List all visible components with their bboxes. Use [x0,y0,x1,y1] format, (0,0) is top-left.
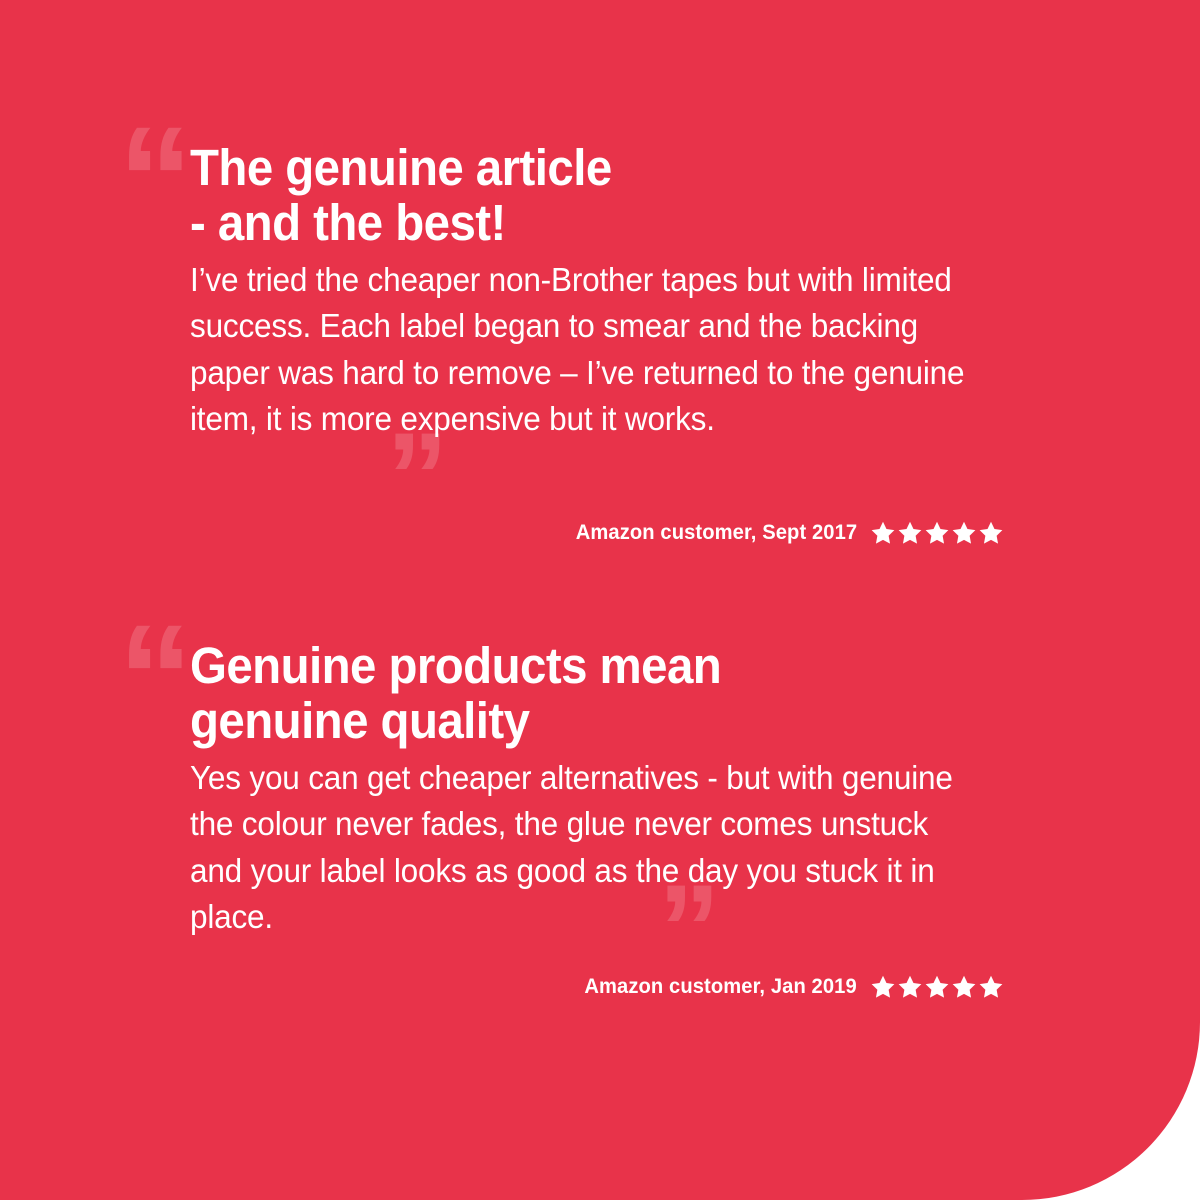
testimonial-2: “ Genuine products mean genuine quality … [118,638,1018,940]
testimonial-2-text-column: Genuine products mean genuine quality Ye… [190,638,1018,940]
testimonial-1-text-column: The genuine article - and the best! I’ve… [190,140,1018,442]
testimonial-1-heading: The genuine article - and the best! [190,140,960,250]
star-icon [924,974,950,1000]
testimonial-2-body: Yes you can get cheaper alternatives - b… [190,755,981,940]
testimonial-1-attribution-name: Amazon customer, Sept 2017 [576,521,857,545]
testimonial-1-quote-body: “ The genuine article - and the best! I’… [118,140,1018,442]
star-icon [978,974,1004,1000]
testimonial-2-heading: Genuine products mean genuine quality [190,638,960,748]
testimonial-2-quote-body: “ Genuine products mean genuine quality … [118,638,1018,940]
star-icon [951,974,977,1000]
star-icon [870,974,896,1000]
quote-open-icon: “ [118,602,189,752]
testimonial-1: “ The genuine article - and the best! I’… [118,140,1018,442]
testimonials-content: “ The genuine article - and the best! I’… [0,0,1200,1200]
testimonial-2-rating-stars [870,974,1004,1000]
star-icon [870,520,896,546]
star-icon [978,520,1004,546]
quote-open-icon: “ [118,104,189,254]
testimonial-2-paragraph-wrap: Yes you can get cheaper alternatives - b… [190,755,1018,940]
star-icon [897,974,923,1000]
testimonial-2-attribution: Amazon customer, Jan 2019 [118,974,1004,1000]
testimonial-1-attribution: Amazon customer, Sept 2017 [118,520,1004,546]
testimonial-2-attribution-name: Amazon customer, Jan 2019 [585,975,857,999]
star-icon [897,520,923,546]
testimonial-1-body: I’ve tried the cheaper non-Brother tapes… [190,257,981,442]
star-icon [924,520,950,546]
star-icon [951,520,977,546]
testimonial-1-paragraph-wrap: I’ve tried the cheaper non-Brother tapes… [190,257,1018,442]
testimonials-card: “ The genuine article - and the best! I’… [0,0,1200,1200]
testimonial-1-rating-stars [870,520,1004,546]
